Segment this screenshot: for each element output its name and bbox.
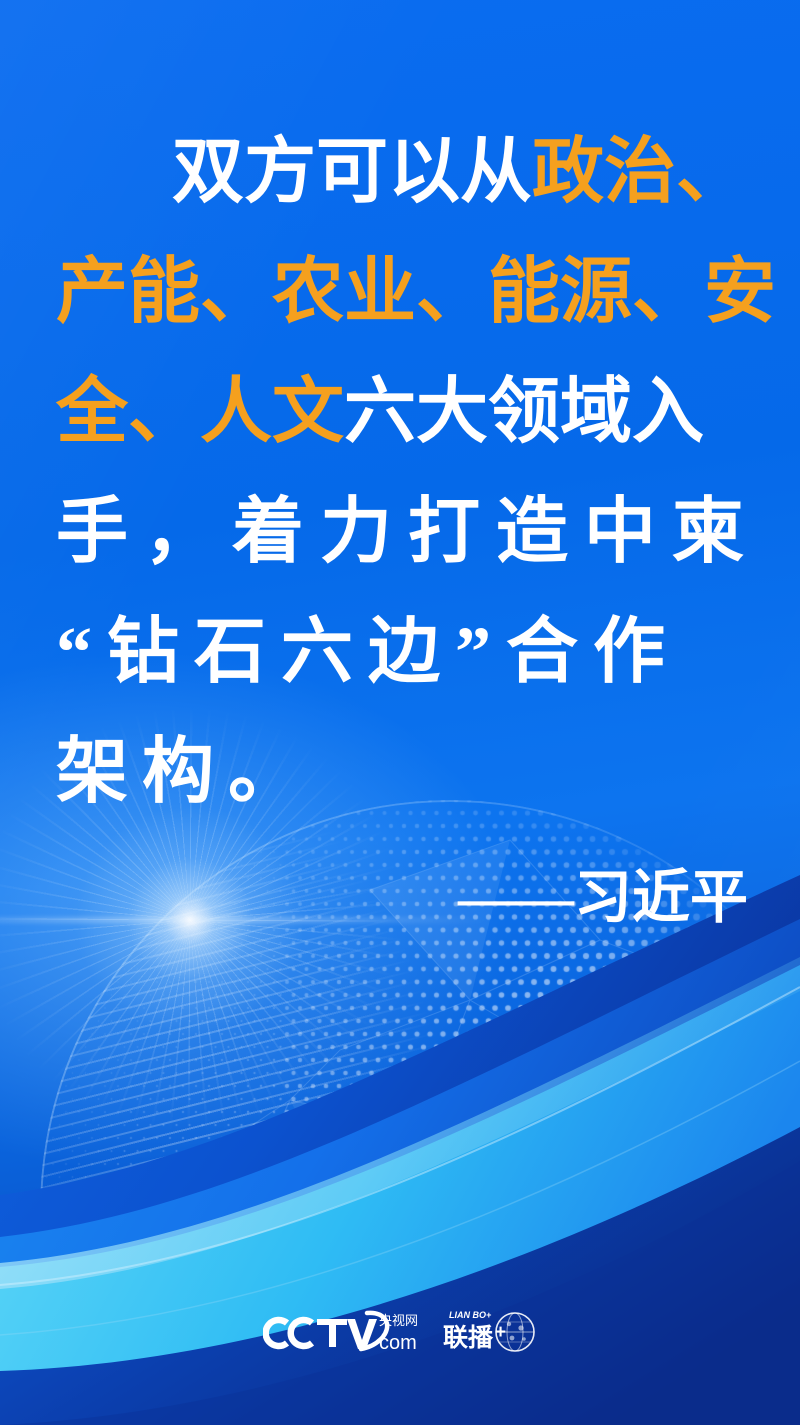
quote-line-2: 产能、农业、能源、安 bbox=[56, 232, 748, 352]
quote-plain-text: 架构。 bbox=[56, 732, 314, 812]
quote-highlight-text: 产能、农业、能源、安 bbox=[56, 252, 776, 332]
lianbo-mark: LIAN BO+ 联播 + bbox=[441, 1308, 537, 1354]
quote-plain-text: “钻石六边”合作 bbox=[56, 612, 680, 692]
quote-line-6: 架构。 bbox=[56, 712, 748, 832]
quote-line-4: 手，着力打造中柬 bbox=[56, 472, 748, 592]
lianbo-logo[interactable]: LIAN BO+ 联播 + bbox=[441, 1308, 537, 1354]
cctv-logo[interactable]: 央视网 com bbox=[263, 1309, 427, 1353]
cctv-domain-label: com bbox=[379, 1332, 417, 1353]
quote-plain-text: 手，着力打造中柬 bbox=[56, 492, 760, 572]
poster-root: 双方可以从政治、产能、农业、能源、安全、人文六大领域入手，着力打造中柬“钻石六边… bbox=[0, 0, 800, 1425]
attribution: ——习近平 bbox=[56, 852, 748, 944]
lianbo-chinese-label: 联播 bbox=[443, 1323, 494, 1352]
quote-block: 双方可以从政治、产能、农业、能源、安全、人文六大领域入手，着力打造中柬“钻石六边… bbox=[56, 112, 748, 832]
lianbo-pinyin-label: LIAN BO+ bbox=[449, 1310, 492, 1320]
quote-line-1: 双方可以从政治、 bbox=[56, 112, 748, 232]
logo-bar: 央视网 com LIAN BO+ 联播 + bbox=[0, 1300, 800, 1362]
quote-plain-text: 双方可以从 bbox=[172, 132, 532, 212]
quote-highlight-text: 全、人文 bbox=[56, 372, 344, 452]
cctv-chinese-label: 央视网 bbox=[379, 1314, 418, 1329]
quote-line-5: “钻石六边”合作 bbox=[56, 592, 748, 712]
quote-highlight-text: 政治、 bbox=[532, 132, 748, 212]
cctv-wordmark: 央视网 com bbox=[263, 1309, 427, 1353]
quote-plain-text: 六大领域入 bbox=[344, 372, 704, 452]
quote-line-3: 全、人文六大领域入 bbox=[56, 352, 748, 472]
lianbo-plus-label: + bbox=[495, 1322, 506, 1343]
